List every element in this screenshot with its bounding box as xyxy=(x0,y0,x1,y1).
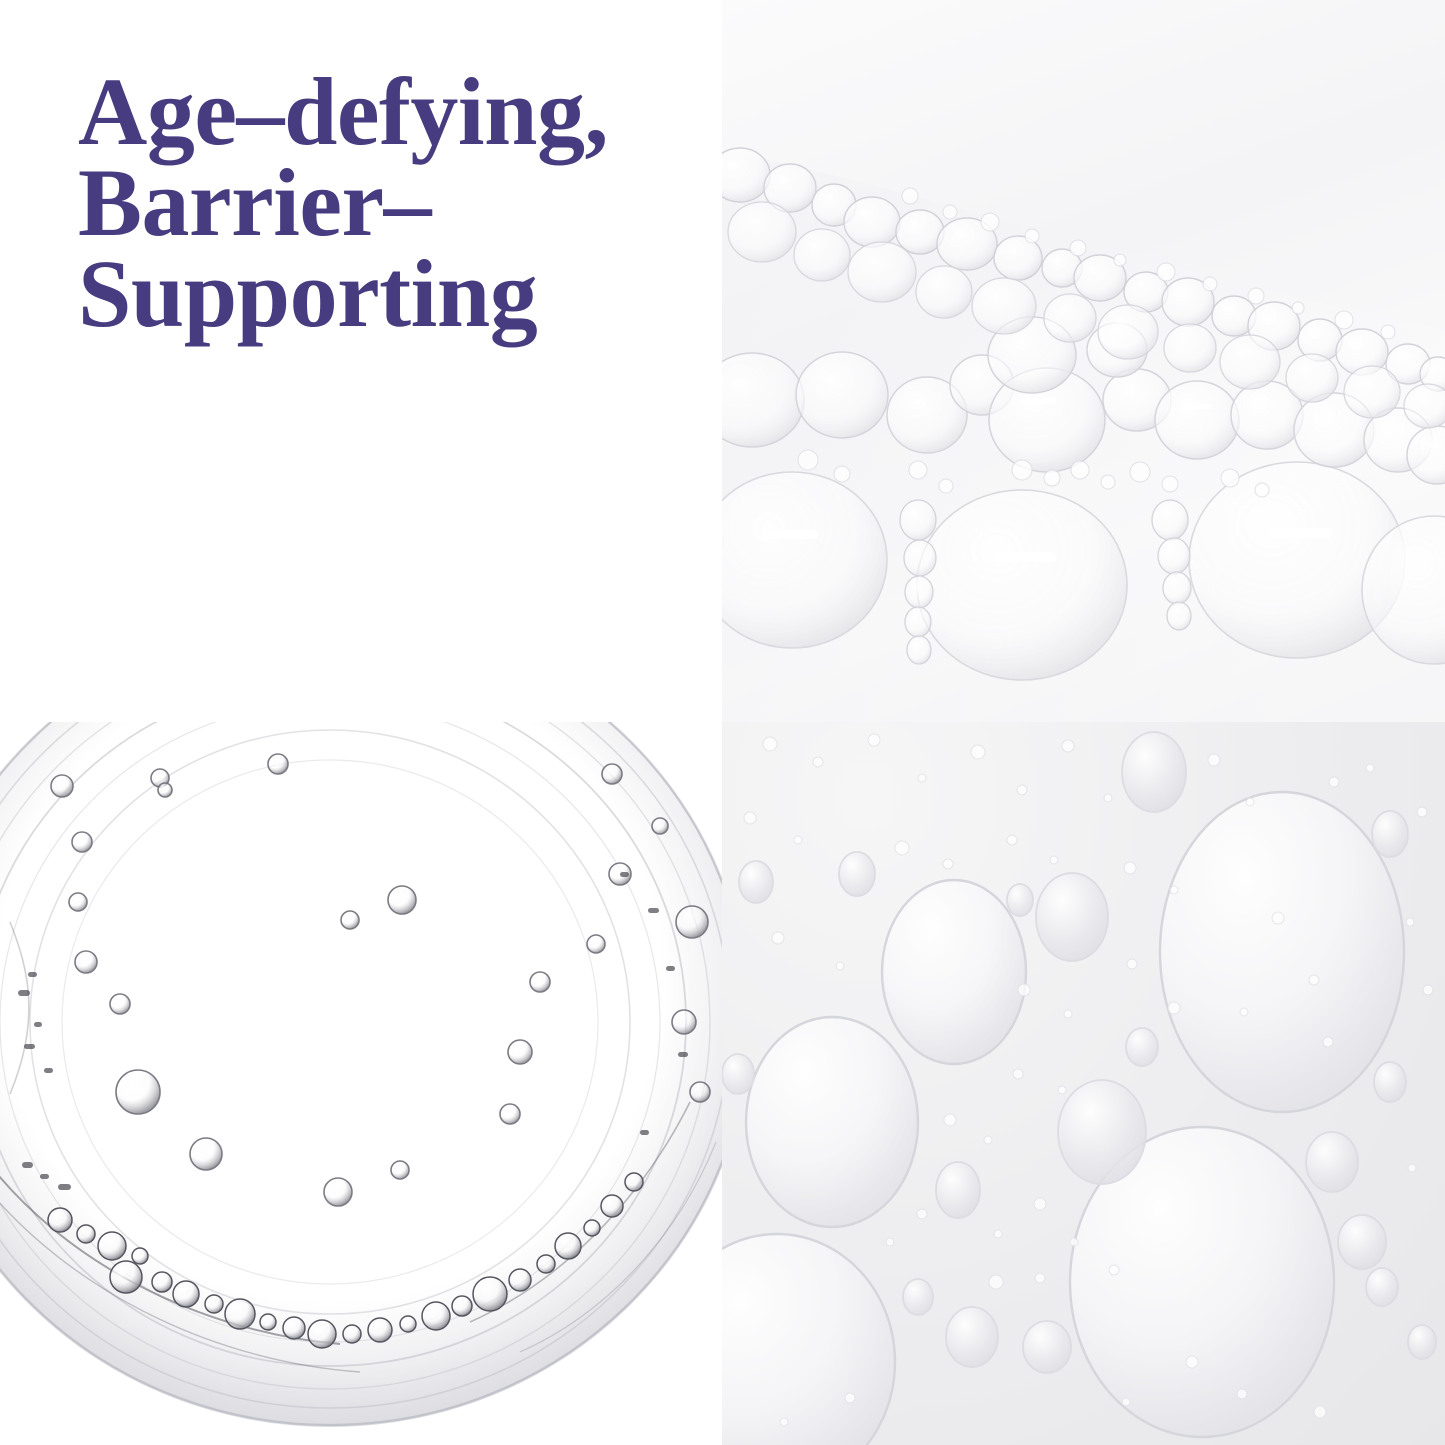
panel-peptide-complex: Peptide Complex visibly plumps, firms an… xyxy=(722,722,1445,1445)
foam-bubbles-illustration xyxy=(722,0,1445,722)
panel-adenosine: Adenosine boosts collagen synthesis xyxy=(722,0,1445,722)
page-title: Age–defying, Barrier– Supporting xyxy=(78,66,678,340)
gel-ring-illustration xyxy=(0,722,722,1445)
product-benefits-infographic: Age–defying, Barrier– Supporting xyxy=(0,0,1445,1445)
panel-hydrolyzed-elastin: Hydrolyzed Elastin locks in moisture and… xyxy=(0,722,722,1445)
panel-headline: Age–defying, Barrier– Supporting xyxy=(0,0,722,722)
oil-droplets-illustration xyxy=(722,722,1445,1445)
